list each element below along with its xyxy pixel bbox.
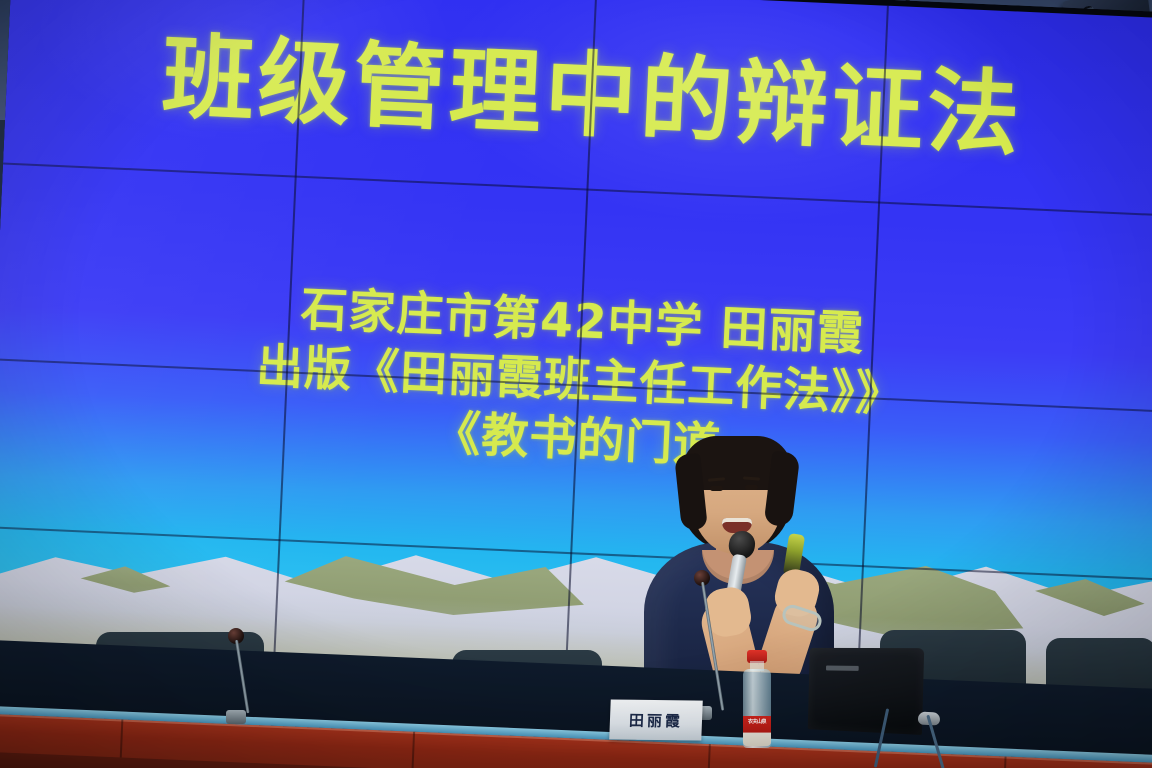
nameplate: 田丽霞 <box>609 699 703 740</box>
nameplate-text: 田丽霞 <box>629 709 684 731</box>
microphone-base <box>226 710 246 724</box>
desk-panel-seam-3 <box>706 744 711 768</box>
water-bottle-icon[interactable]: 农夫山泉 <box>742 650 772 748</box>
video-wall-display[interactable]: 班级管理中的辩证法 石家庄市第42中学 田丽霞 出版《田丽霞班主任工作法》》 《… <box>0 0 1152 724</box>
laptop-brand-mark <box>826 666 859 671</box>
slide-title: 班级管理中的辩证法 <box>5 19 1152 174</box>
bottle-brand-label: 农夫山泉 <box>743 718 771 725</box>
desk-panel-seam-2 <box>410 732 415 768</box>
lecture-hall-scene: 班级管理中的辩证法 石家庄市第42中学 田丽霞 出版《田丽霞班主任工作法》》 《… <box>0 0 1152 768</box>
bottle-label: 农夫山泉 <box>743 716 771 746</box>
presenter-eye-left <box>710 486 723 491</box>
video-wall[interactable]: 班级管理中的辩证法 石家庄市第42中学 田丽霞 出版《田丽霞班主任工作法》》 《… <box>0 0 1152 732</box>
slide-content: 班级管理中的辩证法 石家庄市第42中学 田丽霞 出版《田丽霞班主任工作法》》 《… <box>0 0 1152 724</box>
presenter-eye-right <box>745 485 758 490</box>
desk-panel-seam-4 <box>1002 756 1007 768</box>
laptop-icon[interactable] <box>808 648 925 735</box>
